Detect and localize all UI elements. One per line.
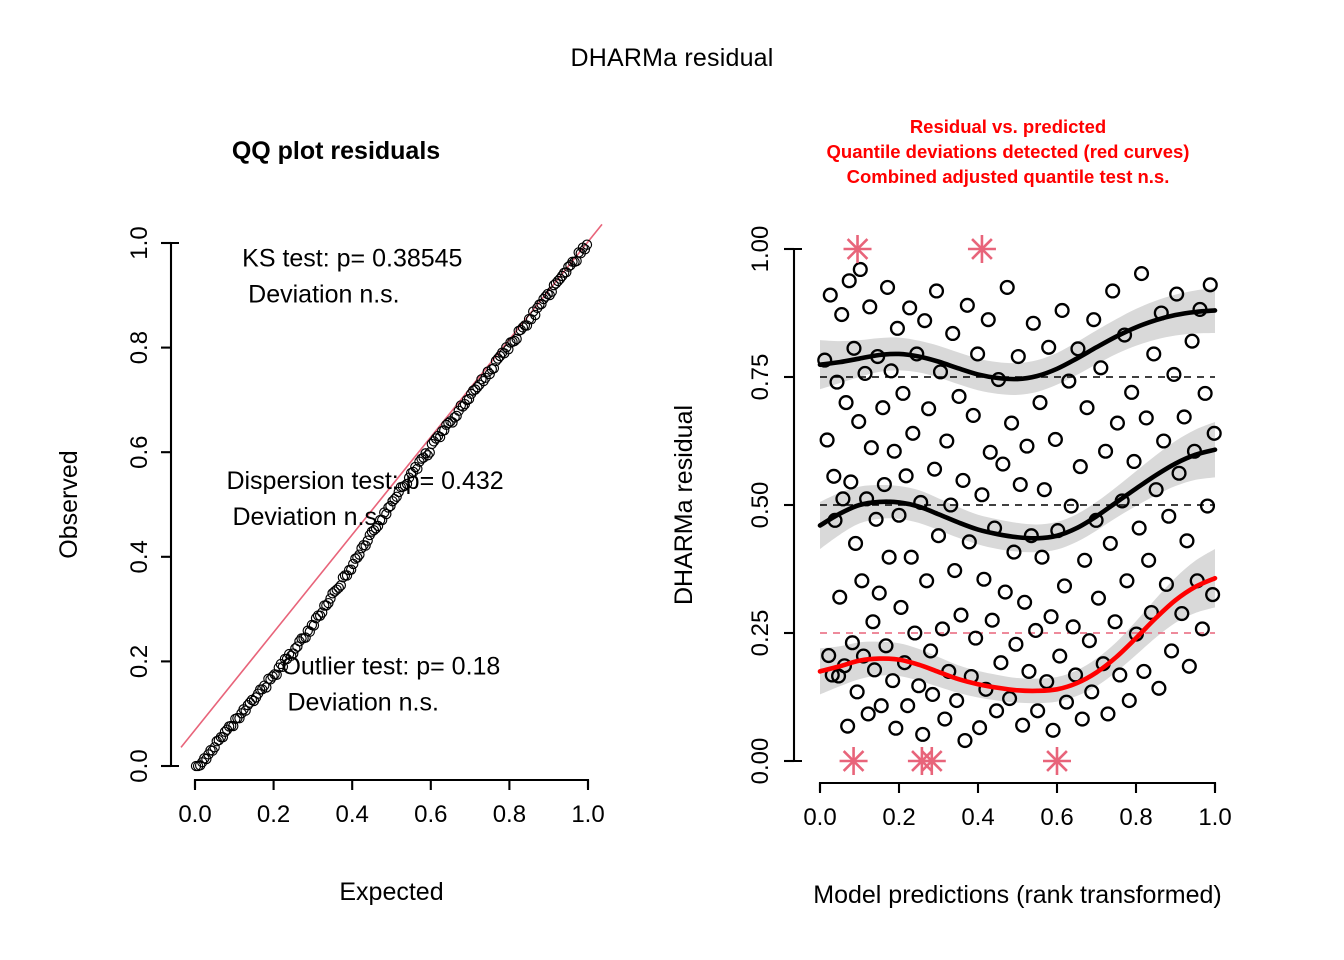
- residual-point: [889, 722, 902, 735]
- residual-point: [967, 409, 980, 422]
- residual-point: [849, 537, 862, 550]
- outlier-star-icon: [840, 747, 868, 775]
- residual-point: [873, 587, 886, 600]
- residual-point: [1121, 574, 1134, 587]
- residual-point: [930, 285, 943, 298]
- residual-point: [1201, 500, 1214, 513]
- x-tick-label: 1.0: [1198, 804, 1231, 831]
- y-tick-label: 0.00: [747, 738, 774, 785]
- residual-point: [1157, 435, 1170, 448]
- residual-point: [957, 474, 970, 487]
- x-tick-label: 0.2: [257, 801, 290, 828]
- residual-point: [1168, 368, 1181, 381]
- residual-point: [920, 574, 933, 587]
- residual-point: [1042, 341, 1055, 354]
- annotation-label: Outlier test: p= 0.18: [281, 652, 500, 680]
- x-axis-line: [820, 783, 1215, 791]
- residual-point: [1053, 650, 1066, 663]
- residual-point: [1186, 335, 1199, 348]
- residual-point: [854, 263, 867, 276]
- residual-point: [906, 427, 919, 440]
- residual-point: [912, 679, 925, 692]
- qq-plot-panel: QQ plot residuals 0.00.20.40.60.81.00.00…: [0, 0, 672, 960]
- residual-point: [827, 470, 840, 483]
- x-tick-label: 0.8: [1119, 804, 1152, 831]
- residual-plot-panel: Residual vs. predicted Quantile deviatio…: [672, 0, 1344, 960]
- residual-point: [852, 415, 865, 428]
- residual-point: [976, 488, 989, 501]
- residual-point: [932, 529, 945, 542]
- residual-point: [900, 469, 913, 482]
- residual-point: [821, 434, 834, 447]
- residual-point: [1133, 522, 1146, 535]
- qq-annotation-dispersion: Dispersion test: p= 0.432Deviation n.s.: [226, 467, 503, 531]
- residual-point: [1014, 478, 1027, 491]
- residual-point: [1001, 281, 1014, 294]
- y-tick-label: 0.4: [126, 540, 153, 573]
- x-axis-title: Expected: [339, 878, 443, 906]
- residual-point: [1109, 615, 1122, 628]
- confidence-band-0.25: [820, 549, 1215, 703]
- outlier-star-icon: [844, 235, 872, 263]
- residual-point: [1016, 719, 1029, 732]
- residual-point: [888, 445, 901, 458]
- residual-point: [916, 728, 929, 741]
- qq-plot-svg: 0.00.20.40.60.81.00.00.20.40.60.81.0Expe…: [0, 0, 672, 960]
- residual-point: [1005, 417, 1018, 430]
- residual-point: [1036, 551, 1049, 564]
- residual-point: [995, 656, 1008, 669]
- residual-point: [1087, 313, 1100, 326]
- residual-point: [950, 694, 963, 707]
- residual-point: [1081, 401, 1094, 414]
- outlier-star-icon: [968, 235, 996, 263]
- residual-point: [1128, 455, 1141, 468]
- residual-point: [1199, 387, 1212, 400]
- residual-point: [840, 396, 853, 409]
- y-tick-label: 0.75: [747, 354, 774, 401]
- residual-point: [1125, 386, 1138, 399]
- x-tick-label: 0.4: [336, 801, 369, 828]
- residual-point: [835, 308, 848, 321]
- residual-point: [1058, 580, 1071, 593]
- residual-point: [1083, 634, 1096, 647]
- residual-point: [1047, 724, 1060, 737]
- residual-plot-svg: 0.00.20.40.60.81.00.000.250.500.751.00Mo…: [672, 0, 1344, 960]
- y-axis-title: DHARMa residual: [670, 405, 698, 605]
- residual-point: [863, 300, 876, 313]
- residual-point: [891, 322, 904, 335]
- residual-point: [1104, 537, 1117, 550]
- residual-point: [1178, 411, 1191, 424]
- figure-root: DHARMa residual QQ plot residuals 0.00.2…: [0, 0, 1344, 960]
- residual-point: [959, 734, 972, 747]
- residual-point: [883, 551, 896, 564]
- residual-point: [982, 313, 995, 326]
- annotation-label: Dispersion test: p= 0.432: [226, 467, 503, 495]
- residual-point: [843, 274, 856, 287]
- residual-point: [1140, 412, 1153, 425]
- residual-point: [905, 551, 918, 564]
- y-axis-line: [171, 243, 179, 766]
- residual-point: [1165, 645, 1178, 658]
- residual-point: [1106, 285, 1119, 298]
- residual-point: [1076, 713, 1089, 726]
- y-tick-label: 0.8: [126, 331, 153, 364]
- y-tick-label: 0.6: [126, 436, 153, 469]
- residual-point: [1094, 361, 1107, 374]
- residual-point: [1021, 440, 1034, 453]
- residual-point: [824, 289, 837, 302]
- residual-point: [984, 446, 997, 459]
- residual-point: [953, 390, 966, 403]
- x-axis-line: [195, 780, 588, 788]
- residual-point: [1034, 396, 1047, 409]
- x-tick-label: 0.8: [493, 801, 526, 828]
- y-tick-label: 0.0: [126, 749, 153, 782]
- qq-point: [322, 601, 331, 610]
- x-tick-label: 0.0: [178, 801, 211, 828]
- residual-point: [855, 574, 868, 587]
- residual-point: [876, 401, 889, 414]
- residual-point: [918, 314, 931, 327]
- residual-point: [1113, 669, 1126, 682]
- qq-annotation-outlier: Outlier test: p= 0.18Deviation n.s.: [281, 652, 500, 716]
- residual-point: [978, 573, 991, 586]
- residual-point: [1065, 500, 1078, 513]
- residual-point: [926, 688, 939, 701]
- residual-point: [973, 721, 986, 734]
- residual-point: [1135, 267, 1148, 280]
- residual-point: [1045, 610, 1058, 623]
- residual-point: [1038, 483, 1051, 496]
- annotation-result: Deviation n.s.: [287, 688, 438, 716]
- residual-point: [1010, 638, 1023, 651]
- residual-point: [1067, 620, 1080, 633]
- residual-point: [1027, 317, 1040, 330]
- y-tick-label: 1.0: [126, 226, 153, 259]
- annotation-result: Deviation n.s.: [232, 503, 383, 531]
- residual-point: [897, 387, 910, 400]
- residual-point: [955, 609, 968, 622]
- residual-point: [1142, 554, 1155, 567]
- residual-point: [971, 348, 984, 361]
- residual-point: [867, 615, 880, 628]
- residual-point: [865, 441, 878, 454]
- y-tick-label: 1.00: [747, 226, 774, 273]
- x-tick-label: 0.6: [1040, 804, 1073, 831]
- residual-point: [1031, 704, 1044, 717]
- residual-point: [1123, 694, 1136, 707]
- annotation-label: KS test: p= 0.38545: [242, 245, 462, 273]
- residual-point: [961, 299, 974, 312]
- residual-point: [881, 281, 894, 294]
- residual-point: [1018, 596, 1031, 609]
- residual-point: [903, 301, 916, 314]
- residual-point: [833, 591, 846, 604]
- residual-point: [1183, 660, 1196, 673]
- residual-point: [1056, 304, 1069, 317]
- residual-point: [1029, 624, 1042, 637]
- residual-point: [862, 708, 875, 721]
- y-tick-label: 0.25: [747, 610, 774, 657]
- residual-point: [1153, 682, 1166, 695]
- residual-point: [1074, 460, 1087, 473]
- residual-point: [1102, 708, 1115, 721]
- residual-point: [1162, 510, 1175, 523]
- x-tick-label: 0.6: [414, 801, 447, 828]
- x-tick-label: 0.0: [803, 804, 836, 831]
- residual-point: [969, 632, 982, 645]
- residual-point: [938, 713, 951, 726]
- y-tick-label: 0.2: [126, 645, 153, 678]
- x-tick-label: 0.2: [882, 804, 915, 831]
- residual-point: [875, 699, 888, 712]
- y-axis-line: [794, 249, 802, 761]
- residual-point: [1092, 592, 1105, 605]
- residual-point: [986, 614, 999, 627]
- residual-point: [851, 685, 864, 698]
- residual-point: [1138, 665, 1151, 678]
- outlier-star-icon: [1043, 747, 1071, 775]
- outlier-star-icon: [918, 747, 946, 775]
- residual-point: [996, 458, 1009, 471]
- residual-point: [1147, 348, 1160, 361]
- residual-point: [886, 674, 899, 687]
- annotation-result: Deviation n.s.: [248, 281, 399, 309]
- residual-point: [1012, 350, 1025, 363]
- y-axis-title: Observed: [55, 450, 83, 558]
- residual-point: [895, 601, 908, 614]
- residual-point: [1181, 534, 1194, 547]
- residual-point: [901, 699, 914, 712]
- residual-point: [1078, 554, 1091, 567]
- residual-point: [844, 476, 857, 489]
- residual-point: [990, 704, 1003, 717]
- qq-annotation-ks: KS test: p= 0.38545Deviation n.s.: [242, 245, 462, 309]
- residual-point: [1049, 433, 1062, 446]
- residual-point: [1111, 417, 1124, 430]
- x-axis-title: Model predictions (rank transformed): [813, 881, 1222, 909]
- x-tick-label: 0.4: [961, 804, 994, 831]
- residual-point: [940, 435, 953, 448]
- x-tick-label: 1.0: [571, 801, 604, 828]
- residual-point: [1023, 665, 1036, 678]
- residual-point: [922, 402, 935, 415]
- residual-point: [841, 720, 854, 733]
- residual-point: [946, 327, 959, 340]
- residual-point: [1099, 445, 1112, 458]
- y-tick-label: 0.50: [747, 482, 774, 529]
- residual-point: [928, 463, 941, 476]
- residual-point: [999, 586, 1012, 599]
- residual-point: [948, 564, 961, 577]
